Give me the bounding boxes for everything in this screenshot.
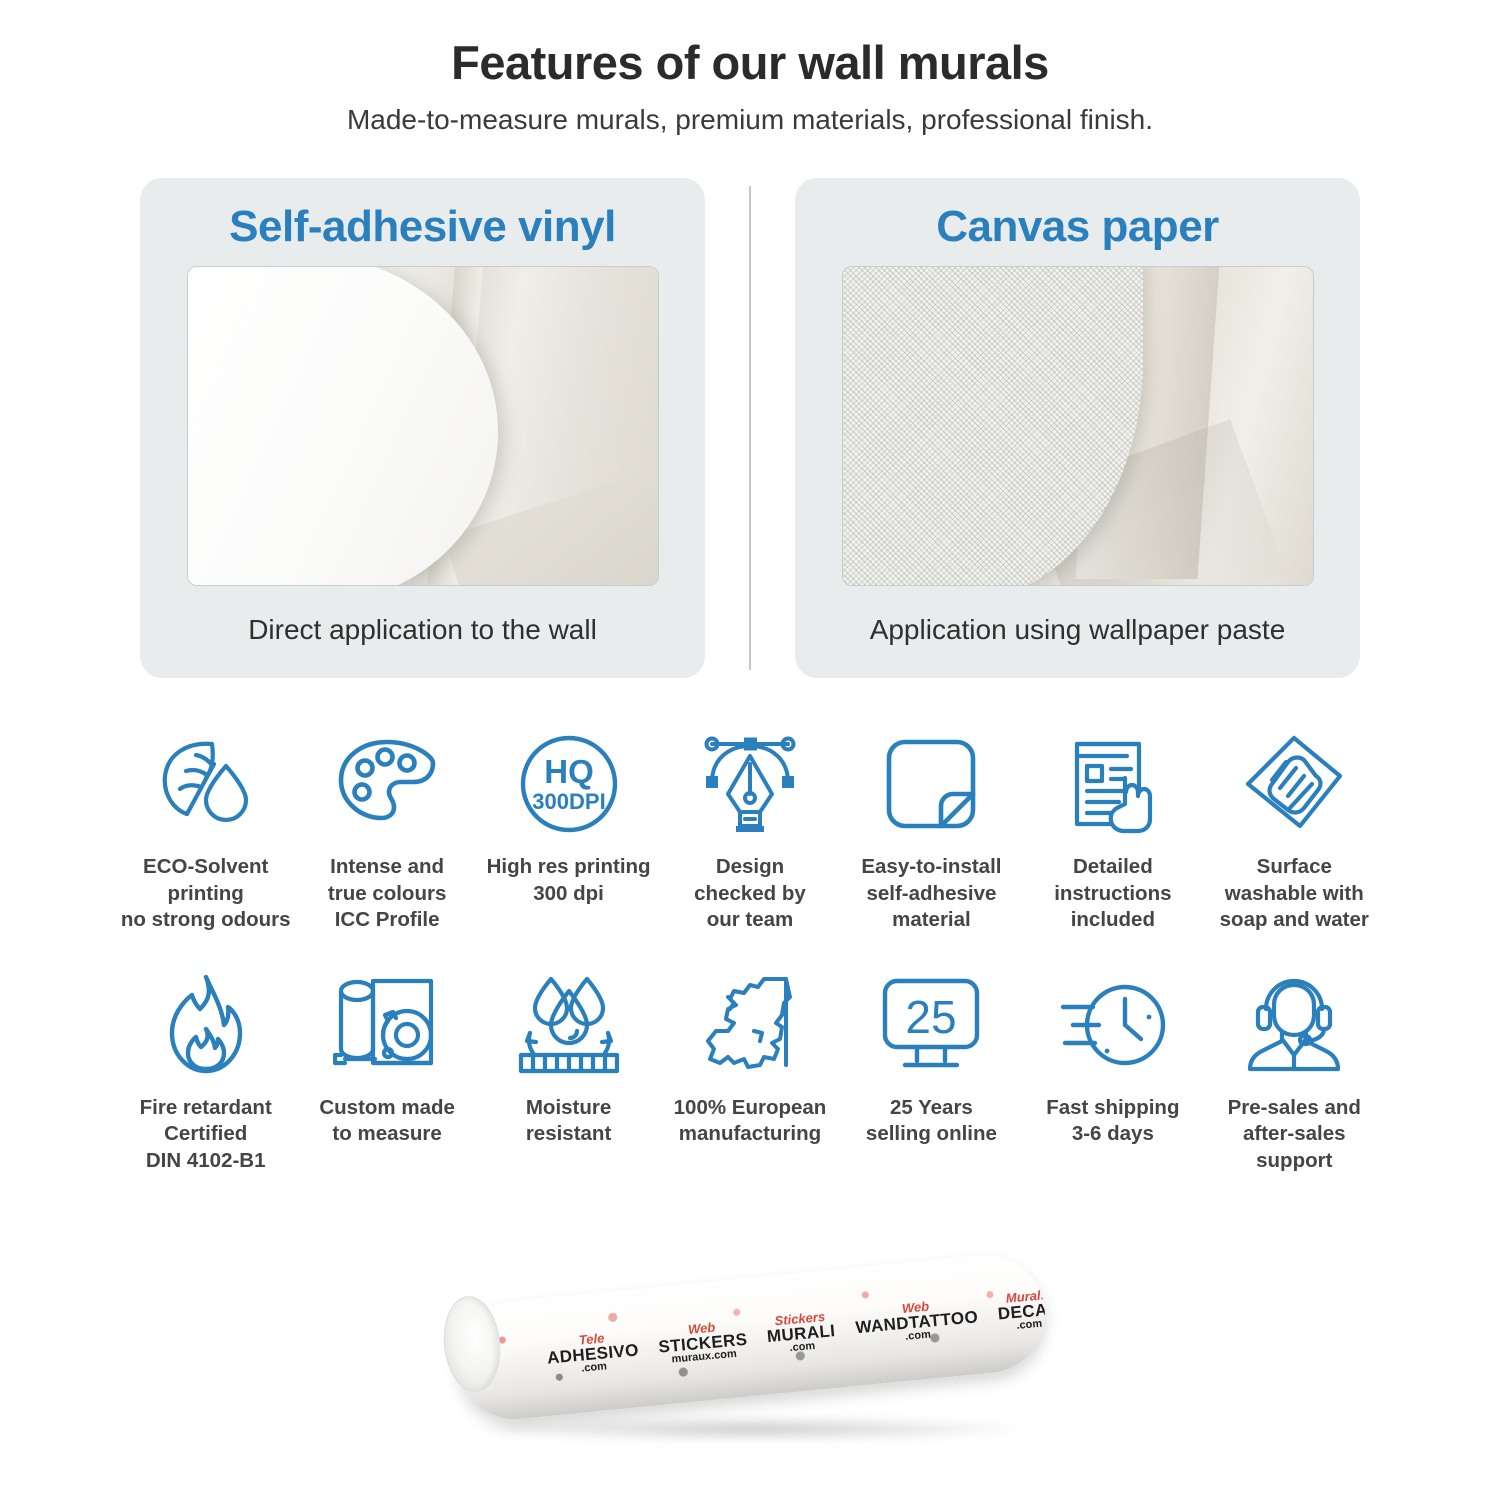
- tube-logo-webwandtattoo: Web WANDTATTOO .com: [853, 1295, 979, 1347]
- headset-support-agent-icon: [1244, 967, 1344, 1083]
- feature-25-years: 25 25 Years selling online: [844, 967, 1019, 1174]
- page-subtitle: Made-to-measure murals, premium material…: [0, 104, 1500, 136]
- feature-label: Custom made to measure: [319, 1095, 455, 1147]
- page-title: Features of our wall murals: [0, 36, 1500, 90]
- feature-row-1: ECO-Solvent printing no strong odours In…: [118, 726, 1382, 933]
- feature-label: 100% European manufacturing: [674, 1095, 827, 1147]
- card-caption: Application using wallpaper paste: [870, 612, 1286, 648]
- tube-logo-strip: Tele ADHESIVO .com Web STICKERS muraux.c…: [452, 1249, 1051, 1424]
- shipping-tube: Tele ADHESIVO .com Web STICKERS muraux.c…: [430, 1244, 1070, 1454]
- roll-tape-measure-icon: [333, 967, 441, 1083]
- features-section: ECO-Solvent printing no strong odours In…: [0, 726, 1500, 1173]
- flame-icon: [160, 967, 252, 1083]
- feature-true-colours: Intense and true colours ICC Profile: [299, 726, 474, 933]
- tube-drop-shadow: [470, 1416, 1030, 1442]
- feature-label: ECO-Solvent printing no strong odours: [121, 854, 291, 933]
- europe-map-icon: [698, 967, 802, 1083]
- tube-logo-webstickersmuraux: Web STICKERS muraux.com: [657, 1317, 749, 1366]
- feature-label: Surface washable with soap and water: [1220, 854, 1369, 933]
- hand-wiping-cloth-icon: [1242, 726, 1346, 842]
- peeling-sticker-icon: [883, 726, 979, 842]
- tube-body: Tele ADHESIVO .com Web STICKERS muraux.c…: [452, 1249, 1051, 1424]
- feature-washable: Surface washable with soap and water: [1207, 726, 1382, 933]
- feature-easy-install: Easy-to-install self-adhesive material: [844, 726, 1019, 933]
- monitor-25-icon: 25: [879, 967, 983, 1083]
- vinyl-roll-photo: [187, 266, 659, 586]
- hq-badge-bottom-text: 300DPI: [532, 789, 605, 814]
- material-cards-row: Self-adhesive vinyl Direct application t…: [0, 178, 1500, 678]
- tube-logo-teleadhesivo: Tele ADHESIVO .com: [545, 1328, 640, 1377]
- instructions-document-hand-icon: [1063, 726, 1163, 842]
- tube-logo-muralsdecal: Murals DECAL .com: [996, 1287, 1051, 1333]
- feature-label: Pre-sales and after-sales support: [1228, 1095, 1361, 1174]
- feature-label: Design checked by our team: [694, 854, 806, 933]
- feature-label: High res printing 300 dpi: [487, 854, 651, 906]
- card-title: Canvas paper: [936, 202, 1219, 252]
- feature-row-2: Fire retardant Certified DIN 4102-B1 Cus…: [118, 967, 1382, 1174]
- feature-fire-retardant: Fire retardant Certified DIN 4102-B1: [118, 967, 293, 1174]
- feature-design-checked: Design checked by our team: [662, 726, 837, 933]
- material-card-self-adhesive-vinyl[interactable]: Self-adhesive vinyl Direct application t…: [140, 178, 705, 678]
- feature-european-manufacturing: 100% European manufacturing: [662, 967, 837, 1174]
- feature-custom-made: Custom made to measure: [299, 967, 474, 1174]
- water-repellent-droplets-icon: [515, 967, 623, 1083]
- feature-high-res: HQ 300DPI High res printing 300 dpi: [481, 726, 656, 933]
- hq-badge-top-text: HQ: [544, 753, 594, 790]
- page-header: Features of our wall murals Made-to-meas…: [0, 0, 1500, 136]
- feature-label: Moisture resistant: [526, 1095, 611, 1147]
- material-card-canvas-paper[interactable]: Canvas paper Application using wallpaper…: [795, 178, 1360, 678]
- canvas-paper-photo: [842, 266, 1314, 586]
- tube-logo-stickersmurali: Stickers MURALI .com: [765, 1309, 837, 1356]
- feature-label: 25 Years selling online: [866, 1095, 997, 1147]
- paint-palette-icon: [335, 726, 439, 842]
- feature-label: Intense and true colours ICC Profile: [328, 854, 446, 933]
- pen-tool-bezier-icon: [696, 726, 804, 842]
- card-title: Self-adhesive vinyl: [229, 202, 616, 252]
- feature-label: Fast shipping 3-6 days: [1046, 1095, 1179, 1147]
- feature-instructions: Detailed instructions included: [1025, 726, 1200, 933]
- leaf-droplet-icon: [154, 726, 258, 842]
- feature-eco-solvent: ECO-Solvent printing no strong odours: [118, 726, 293, 933]
- tube-section: Tele ADHESIVO .com Web STICKERS muraux.c…: [0, 1234, 1500, 1464]
- feature-label: Detailed instructions included: [1054, 854, 1171, 933]
- feature-label: Fire retardant Certified DIN 4102-B1: [140, 1095, 272, 1174]
- feature-label: Easy-to-install self-adhesive material: [861, 854, 1001, 933]
- feature-fast-shipping: Fast shipping 3-6 days: [1025, 967, 1200, 1174]
- card-caption: Direct application to the wall: [248, 612, 597, 648]
- fast-clock-icon: [1059, 967, 1167, 1083]
- hq-300dpi-badge-icon: HQ 300DPI: [518, 726, 620, 842]
- monitor-badge-value: 25: [906, 991, 957, 1043]
- feature-support: Pre-sales and after-sales support: [1207, 967, 1382, 1174]
- cards-vertical-divider: [749, 186, 751, 670]
- feature-moisture-resistant: Moisture resistant: [481, 967, 656, 1174]
